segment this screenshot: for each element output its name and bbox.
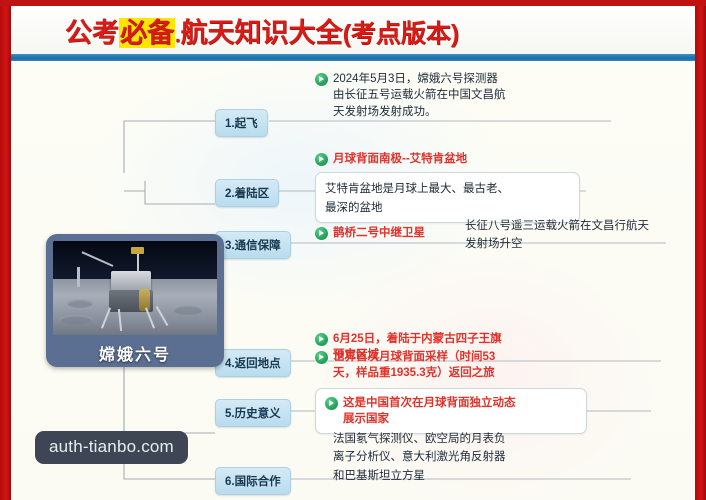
content-row: 2024年5月3日，嫦娥六号探测器 由长征五号运载火箭在中国文昌航 天发射场发射… <box>315 71 615 120</box>
branch-pill-6[interactable]: 6.国际合作 <box>215 467 291 495</box>
content-row: 世界首次月球背面采样（时间53 天，样品重1935.3克）返回之旅 <box>315 349 615 382</box>
header-bar: 公考必备.航天知识大全(考点版本) <box>11 6 695 54</box>
crater-icon <box>59 315 93 325</box>
branch-6-text: 法国氡气探测仪、欧空局的月表负 离子分析仪、意大利激光角反射器 和巴基斯坦立方星 <box>333 433 506 482</box>
branch-3-headline: 鹊桥二号中继卫星 <box>333 225 425 241</box>
branch-pill-3[interactable]: 3.通信保障 <box>215 231 291 259</box>
top-red-border <box>0 0 706 6</box>
branch-pill-2[interactable]: 2.着陆区 <box>215 179 279 207</box>
center-node-change6[interactable]: 嫦娥六号 <box>46 234 224 367</box>
branch-5-detail-box: 这是中国首次在月球背面独立动态 展示国家 <box>315 388 587 435</box>
lander-mast-icon <box>137 251 139 273</box>
branch-5-detail-text: 这是中国首次在月球背面独立动态 展示国家 <box>343 395 516 428</box>
page-title: 公考必备.航天知识大全(考点版本) <box>65 11 459 50</box>
branch-1-text: 2024年5月3日，嫦娥六号探测器 由长征五号运载火箭在中国文昌航 天发射场发射… <box>333 71 506 120</box>
branch-pill-4[interactable]: 4.返回地点 <box>215 349 291 377</box>
title-text-2: 航天知识大全 <box>181 18 343 48</box>
mindmap-page: 公考必备.航天知识大全(考点版本) <box>0 0 706 500</box>
header-blue-bar <box>11 54 695 61</box>
branch-pill-1[interactable]: 1.起飞 <box>215 109 268 137</box>
center-node-label: 嫦娥六号 <box>53 341 217 365</box>
green-play-icon <box>325 397 338 410</box>
right-red-border <box>695 0 706 500</box>
branch-5-headline: 世界首次月球背面采样（时间53 天，样品重1935.3克）返回之旅 <box>333 349 495 382</box>
title-highlight: 必备 <box>119 18 175 48</box>
green-play-icon <box>315 351 328 364</box>
lander-body-icon <box>111 271 151 291</box>
branch-2-content: 月球背面南极--艾特肯盆地 艾特肯盆地是月球上最大、最古老、 最深的盆地 <box>315 151 605 223</box>
branch-2-detail-text: 艾特肯盆地是月球上最大、最古老、 最深的盆地 <box>325 183 509 213</box>
content-row: 这是中国首次在月球背面独立动态 展示国家 <box>325 395 577 428</box>
title-text-1: 公考 <box>65 18 119 48</box>
change6-lander-photo <box>53 241 217 335</box>
title-parenthetical: (考点版本) <box>343 20 460 48</box>
branch-1-content: 2024年5月3日，嫦娥六号探测器 由长征五号运载火箭在中国文昌航 天发射场发射… <box>315 71 615 120</box>
branch-5-content: 世界首次月球背面采样（时间53 天，样品重1935.3克）返回之旅 这是中国首次… <box>315 349 615 434</box>
branch-2-headline: 月球背面南极--艾特肯盆地 <box>333 151 467 167</box>
lander-arm-support-icon <box>77 267 80 287</box>
lander-antenna-icon <box>131 247 144 254</box>
branch-3-detail: 长征八号遥三运载火箭在文昌行航天 发射场升空 <box>465 216 685 253</box>
green-play-icon <box>315 227 328 240</box>
mindmap-canvas: 嫦娥六号 1.起飞 2.着陆区 3.通信保障 4.返回地点 5.历史意义 6.国… <box>11 61 695 500</box>
green-play-icon <box>315 153 328 166</box>
watermark: auth-tianbo.com <box>35 431 188 464</box>
branch-3-detail-text: 长征八号遥三运载火箭在文昌行航天 发射场升空 <box>465 220 649 250</box>
crater-icon <box>67 299 93 308</box>
left-red-border <box>0 0 11 500</box>
branch-pill-5[interactable]: 5.历史意义 <box>215 399 291 427</box>
crater-icon <box>173 305 203 315</box>
green-play-icon <box>315 73 328 86</box>
content-row: 月球背面南极--艾特肯盆地 <box>315 151 605 167</box>
green-play-icon <box>315 333 328 346</box>
branch-6-content: 法国氡气探测仪、欧空局的月表负 离子分析仪、意大利激光角反射器 和巴基斯坦立方星 <box>333 429 633 484</box>
